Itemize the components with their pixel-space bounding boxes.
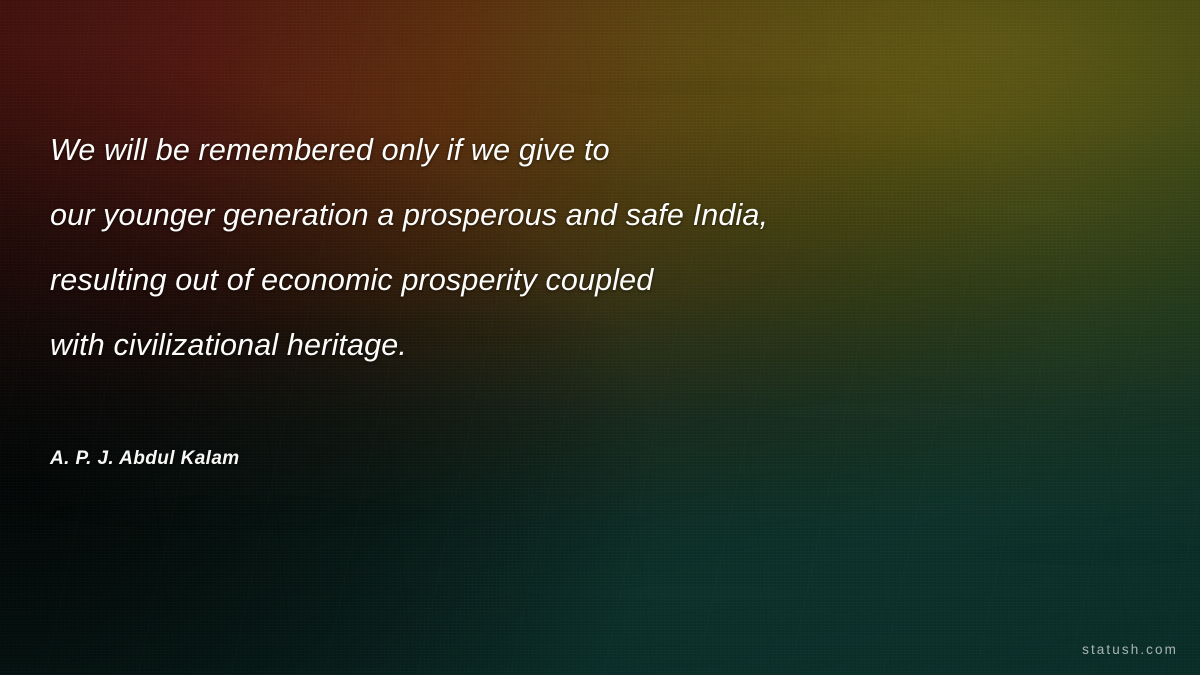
quote-line: our younger generation a prosperous and … [50,183,1050,248]
quote-text-block: We will be remembered only if we give to… [50,118,1050,378]
quote-card: We will be remembered only if we give to… [0,0,1200,675]
quote-line: with civilizational heritage. [50,313,1050,378]
quote-author: A. P. J. Abdul Kalam [50,448,240,470]
quote-line: We will be remembered only if we give to [50,118,1050,183]
quote-line: resulting out of economic prosperity cou… [50,248,1050,313]
card-content: We will be remembered only if we give to… [0,0,1200,675]
site-watermark: statush.com [1082,642,1178,657]
